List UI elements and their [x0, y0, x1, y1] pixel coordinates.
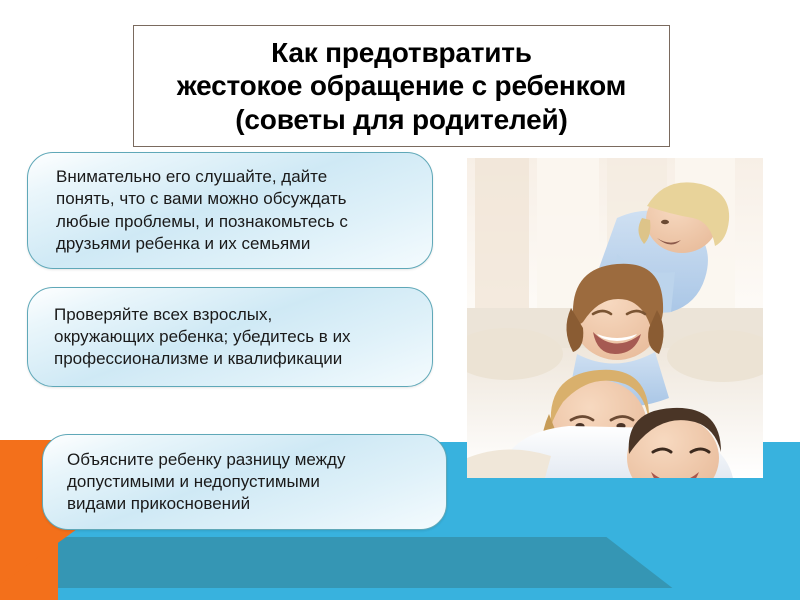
callout-bubble-1: Внимательно его слушайте, дайте понять, … [27, 152, 433, 269]
callout-bubble-3: Объясните ребенку разницу между допустим… [42, 434, 447, 530]
decor-blue-base-strip [0, 588, 800, 600]
title-box: Как предотвратить жестокое обращение с р… [133, 25, 670, 147]
family-photo [467, 158, 763, 478]
callout-text-2: Проверяйте всех взрослых, окружающих реб… [28, 304, 367, 370]
callout-bubble-2: Проверяйте всех взрослых, окружающих реб… [27, 287, 433, 387]
callout-text-1: Внимательно его слушайте, дайте понять, … [28, 166, 364, 254]
callout-text-3: Объясните ребенку разницу между допустим… [43, 449, 361, 515]
family-photo-image [467, 158, 763, 478]
slide-canvas: Как предотвратить жестокое обращение с р… [0, 0, 800, 600]
page-title: Как предотвратить жестокое обращение с р… [177, 36, 626, 135]
